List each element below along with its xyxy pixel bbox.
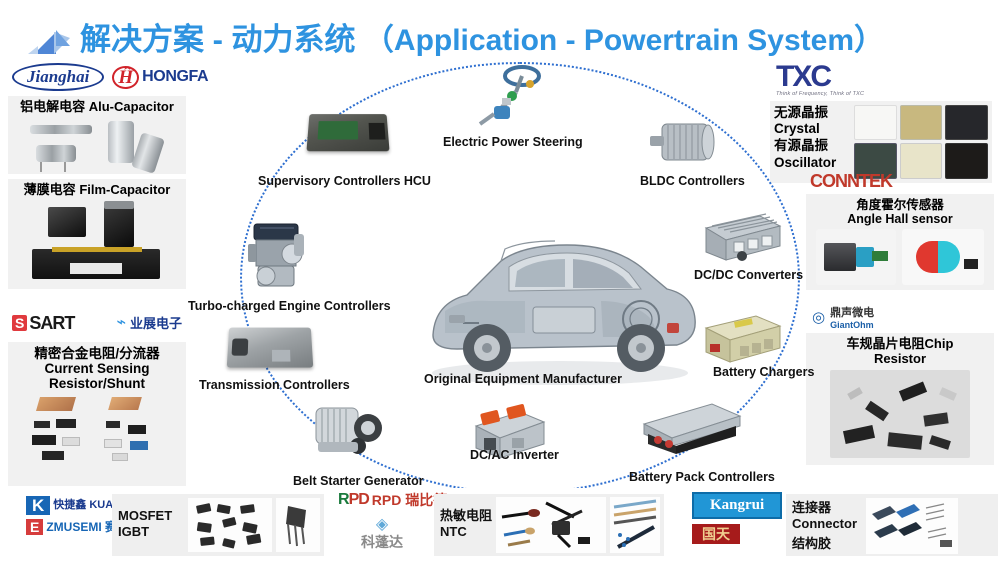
page-title-en: （Application - Powertrain System）: [364, 24, 884, 57]
hall-motor-photo: [816, 229, 896, 285]
hall-ic: [964, 259, 978, 269]
label-original-equipment-manufacturer: Original Equipment Manufacturer: [424, 372, 622, 386]
chip-resistor-f: [106, 421, 120, 428]
bridge-rectifier-photo: [276, 498, 320, 552]
chip-resistor-g: [128, 425, 146, 434]
can-capacitor-photo-2: [131, 132, 165, 174]
shunt-photo-1: [36, 397, 76, 411]
axial-capacitor-photo: [30, 125, 92, 134]
alu-capacitor-box: 铝电解电容 Alu-Capacitor: [8, 96, 186, 174]
crystal-photo-1: [854, 105, 897, 141]
kangrui-logo: Kangrui: [692, 492, 782, 519]
film-cap-terminal: [104, 201, 134, 209]
charger-module-image: [700, 310, 786, 366]
radial-capacitor-photo: [36, 145, 76, 162]
crystal-panel: TXC Think of Frequency, Think of TXC 无源晶…: [770, 62, 992, 183]
label-battery-chargers: Battery Chargers: [713, 365, 814, 379]
chip-resistor-photo: [830, 370, 970, 458]
label-battery-pack-controllers: Battery Pack Controllers: [629, 470, 775, 484]
yezhan-logo: 业展电子: [130, 317, 182, 330]
mosfet-label: MOSFET IGBT: [118, 508, 172, 541]
current-sensing-title: 精密合金电阻/分流器 Current Sensing Resistor/Shun…: [12, 346, 182, 391]
sart-logo: SART: [29, 314, 74, 332]
turbo-engine-image: [236, 214, 318, 296]
adhesive-label: 结构胶: [792, 536, 831, 552]
ntc-wires-photo: [610, 497, 660, 553]
txc-logo: TXC Think of Frequency, Think of TXC: [770, 62, 992, 98]
bldc-motor-image: [646, 116, 720, 166]
hongfa-logo: HONGFA: [142, 69, 208, 85]
magnet-north: [916, 241, 938, 273]
chip-c: [899, 382, 927, 402]
film-cap-photo-1: [48, 207, 86, 237]
ecu-module-image: [306, 114, 389, 151]
ntc-panel-logos: RPD RPD 瑞比德 ◈ 科蓬达: [338, 492, 426, 552]
kelengda-icon: ◈: [338, 514, 426, 534]
label-turbo-charged-engine-controllers: Turbo-charged Engine Controllers: [188, 299, 391, 313]
hongfa-icon: Ĥ: [112, 66, 139, 89]
can-capacitor-photo-1: [108, 121, 134, 163]
crystal-photo-3: [945, 105, 988, 141]
chip-resistor-panel: ◎ 鼎声微电 GiantOhm 车规晶片电阻Chip Resistor: [806, 304, 994, 465]
film-capacitor-box: 薄膜电容 Film-Capacitor: [8, 179, 186, 289]
tcu-module-image: [227, 328, 314, 368]
current-sensing-box: 精密合金电阻/分流器 Current Sensing Resistor/Shun…: [8, 342, 186, 486]
crystal-photo-2: [900, 105, 943, 141]
giantohm-icon: ◎: [812, 310, 825, 325]
ntc-sensor-photo: [496, 497, 606, 553]
page-title: 解决方案 - 动力系统 （Application - Powertrain Sy…: [80, 14, 884, 59]
crystal-labels: 无源晶振 Crystal 有源晶振 Oscillator: [774, 105, 850, 179]
capacitor-lead-b: [64, 162, 66, 172]
rpd-icon: RPD: [338, 492, 369, 508]
hall-sensor-box: 角度霍尔传感器 Angle Hall sensor: [806, 194, 994, 290]
chip-g: [847, 387, 863, 400]
film-capacitor-title: 薄膜电容 Film-Capacitor: [12, 183, 182, 198]
label-transmission-controllers: Transmission Controllers: [199, 378, 350, 392]
steering-column-image: [470, 62, 552, 134]
zmusemi-icon: E: [26, 519, 43, 535]
hall-sensor-title: 角度霍尔传感器 Angle Hall sensor: [810, 198, 990, 226]
label-electric-power-steering: Electric Power Steering: [443, 135, 583, 149]
crystal-images: [854, 105, 988, 179]
title-bar: 解决方案 - 动力系统 （Application - Powertrain Sy…: [0, 8, 1000, 58]
power-module-label: [70, 263, 122, 274]
magnet-south: [938, 241, 960, 273]
chip-resistor-j: [112, 453, 128, 461]
page-title-cn: 解决方案 - 动力系统: [80, 22, 356, 57]
cutaway-car-image: [405, 215, 705, 390]
resistor-panel-logos: S SART ⌁ 业展电子: [8, 308, 186, 338]
chip-resistor-d: [62, 437, 80, 446]
chip-f: [929, 435, 951, 450]
label-dcac-inverter: DC/AC Inverter: [470, 448, 559, 462]
capacitor-lead-a: [40, 162, 42, 172]
slide-canvas: 解决方案 - 动力系统 （Application - Powertrain Sy…: [0, 0, 1000, 562]
conntek-logo: CONNTEK: [806, 172, 994, 192]
triangle-cluster-logo: [26, 24, 86, 58]
finned-converter-image: [698, 208, 784, 264]
battery-pack-image: [636, 398, 746, 456]
sart-icon: S: [12, 315, 27, 331]
chip-resistor-h: [104, 439, 122, 448]
chip-h: [939, 387, 957, 401]
chip-resistor-e: [42, 451, 64, 460]
mosfet-panel-logos: K 快捷鑫 KUAIJIEXIN E ZMUSEMI 赛母迪: [26, 496, 126, 535]
ntc-label: 热敏电阻 NTC: [440, 508, 492, 541]
alu-capacitor-images: [12, 117, 182, 175]
motor-pcb: [872, 251, 888, 261]
shunt-photo-2: [108, 397, 142, 410]
label-supervisory-controllers-hcu: Supervisory Controllers HCU: [258, 174, 431, 188]
resistor-panel: S SART ⌁ 业展电子 精密合金电阻/分流器 Current Sensing…: [8, 308, 186, 486]
chip-a: [843, 425, 875, 444]
alu-capacitor-title: 铝电解电容 Alu-Capacitor: [12, 100, 182, 115]
label-bldc-controllers: BLDC Controllers: [640, 174, 745, 188]
kuaijiexin-icon: K: [26, 496, 50, 515]
magnet-diagram-photo: [902, 229, 984, 285]
jianghai-logo: Jianghai: [12, 63, 104, 91]
capacitor-panel-logos: Jianghai Ĥ HONGFA: [8, 62, 186, 92]
hall-sensor-panel: CONNTEK 角度霍尔传感器 Angle Hall sensor: [806, 172, 994, 290]
power-module-terminals: [52, 247, 142, 252]
capacitor-panel: Jianghai Ĥ HONGFA 铝电解电容 Alu-Capacitor: [8, 62, 186, 289]
chip-e: [923, 412, 948, 426]
connector-label: 连接器 Connector: [792, 500, 857, 533]
hall-sensor-images: [810, 229, 990, 287]
bsg-unit-image: [306, 398, 394, 462]
mosfet-photo: [188, 498, 272, 552]
film-cap-photo-2: [104, 203, 134, 247]
shunt-resistor-images: [12, 395, 182, 475]
chip-resistor-b: [56, 419, 76, 428]
kelengda-logo: 科蓬达: [361, 535, 403, 549]
bottom-bar: K 快捷鑫 KUAIJIEXIN E ZMUSEMI 赛母迪 MOSFET IG…: [0, 488, 1000, 562]
motor-body: [824, 243, 856, 271]
guotian-logo: 国天: [692, 524, 740, 544]
chip-resistor-box: 车规晶片电阻Chip Resistor: [806, 333, 994, 465]
chip-b: [887, 432, 922, 449]
chip-resistor-title: 车规晶片电阻Chip Resistor: [810, 337, 990, 366]
chip-resistor-c: [32, 435, 56, 445]
chip-d: [865, 401, 889, 422]
film-capacitor-images: [12, 201, 182, 291]
chip-resistor-a: [34, 421, 50, 428]
chip-resistor-i: [130, 441, 148, 450]
label-belt-starter-generator: Belt Starter Generator: [293, 474, 424, 488]
connector-panel-logos: Kangrui 国天: [692, 492, 780, 544]
yezhan-icon: ⌁: [116, 315, 126, 331]
connector-photo: [866, 498, 958, 554]
label-dcdc-converters: DC/DC Converters: [694, 268, 803, 282]
giantohm-logo: ◎ 鼎声微电 GiantOhm: [806, 304, 994, 330]
txc-tagline: Think of Frequency, Think of TXC: [776, 92, 992, 98]
